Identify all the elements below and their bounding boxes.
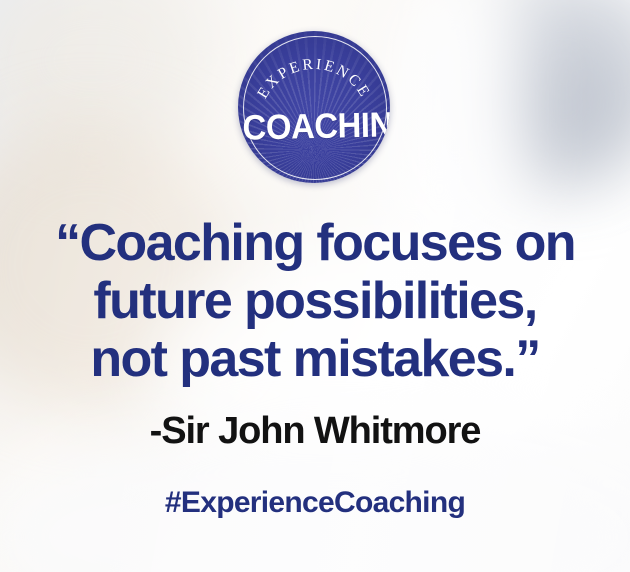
quote-line-1: “Coaching focuses on — [0, 214, 630, 272]
background-blob-grey-topright — [470, 0, 630, 185]
logo-main-text: COACHING — [242, 107, 386, 145]
experience-coaching-logo: EXPERIENCE COACHING — [238, 31, 390, 183]
background-blob-highlight-band — [395, 0, 515, 240]
background-blob-warm-top — [0, 0, 220, 160]
quote-line-3: not past mistakes.” — [0, 330, 630, 388]
background-blob-grey-topright-inner — [505, 40, 625, 170]
quote-text: “Coaching focuses on future possibilitie… — [0, 214, 630, 388]
logo-arc-text: EXPERIENCE — [254, 56, 374, 102]
svg-text:EXPERIENCE: EXPERIENCE — [254, 56, 374, 102]
hashtag-label: #ExperienceCoaching — [0, 485, 630, 521]
quote-card: EXPERIENCE COACHING “Coaching focuses on… — [0, 0, 630, 572]
quote-line-2: future possibilities, — [0, 272, 630, 330]
quote-attribution: -Sir John Whitmore — [0, 408, 630, 454]
